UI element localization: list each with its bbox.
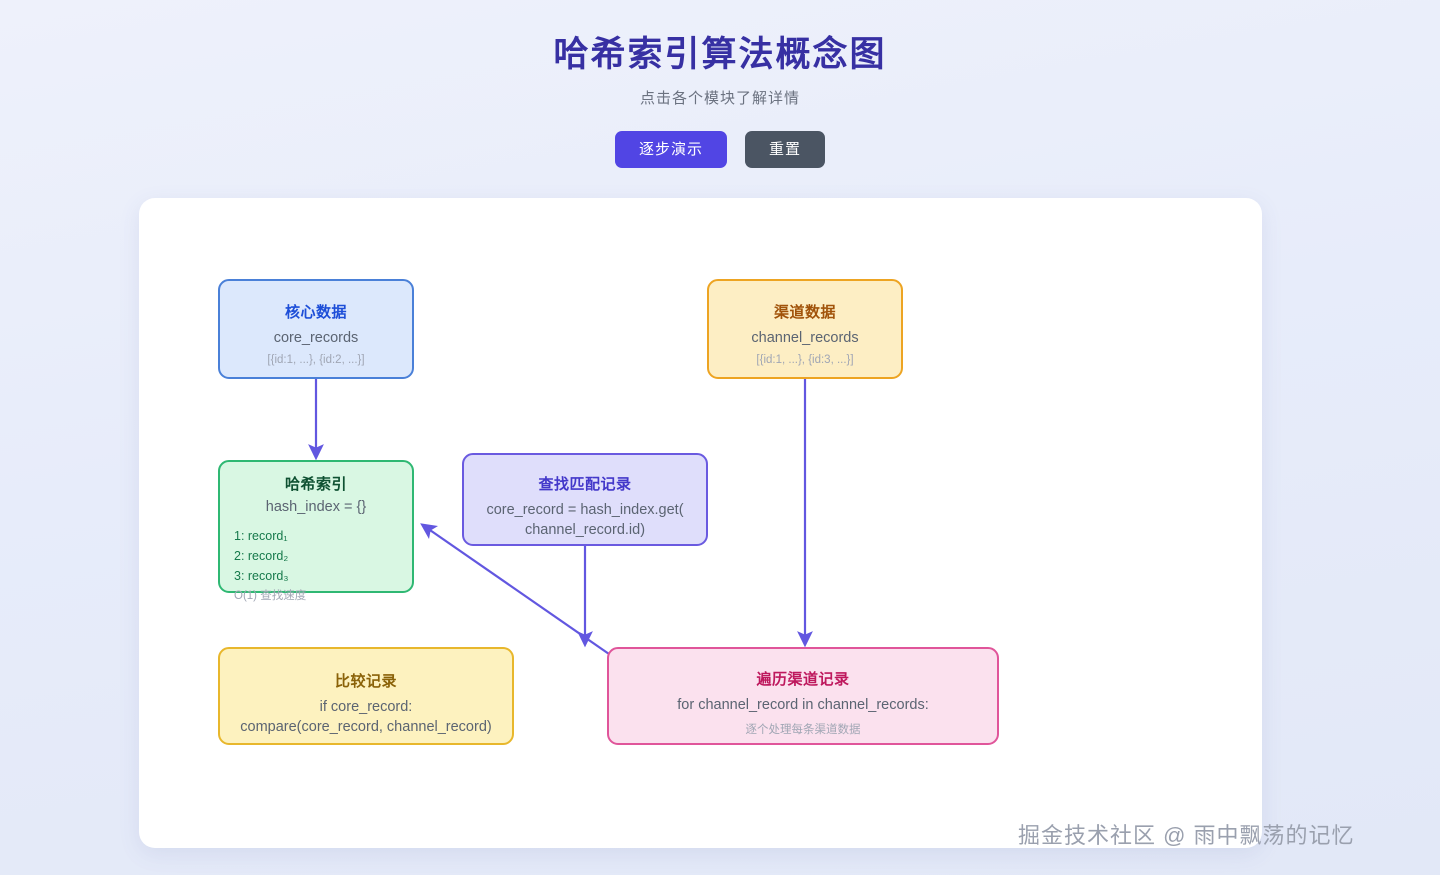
toolbar: 逐步演示 重置: [0, 131, 1440, 168]
node-lookup-title: 查找匹配记录: [464, 473, 706, 494]
hash-index-entry: 1: record₁: [234, 526, 412, 546]
node-compare[interactable]: 比较记录 if core_record: compare(core_record…: [218, 647, 514, 745]
node-hash-index-code: hash_index = {}: [220, 498, 412, 518]
hash-index-entry: 2: record₂: [234, 546, 412, 566]
node-hash-index[interactable]: 哈希索引 hash_index = {} 1: record₁ 2: recor…: [218, 460, 414, 593]
hash-index-entry-list: 1: record₁ 2: record₂ 3: record₃: [220, 526, 412, 587]
node-channel-data-title: 渠道数据: [709, 301, 901, 322]
node-core-data[interactable]: 核心数据 core_records [{id:1, ...}, {id:2, .…: [218, 279, 414, 379]
node-hash-index-note: O(1) 查找速度: [220, 587, 412, 603]
node-lookup-code-line1: core_record = hash_index.get(: [464, 501, 706, 521]
node-core-data-note: [{id:1, ...}, {id:2, ...}]: [220, 354, 412, 366]
node-iterate-title: 遍历渠道记录: [609, 668, 997, 689]
diagram-canvas: 核心数据 core_records [{id:1, ...}, {id:2, .…: [139, 198, 1262, 848]
node-compare-code-line2: compare(core_record, channel_record): [220, 718, 512, 738]
node-iterate-code: for channel_record in channel_records:: [609, 696, 997, 716]
node-hash-index-title: 哈希索引: [220, 473, 412, 494]
node-compare-title: 比较记录: [220, 670, 512, 691]
node-core-data-code: core_records: [220, 329, 412, 349]
step-demo-button[interactable]: 逐步演示: [615, 131, 727, 168]
node-compare-code-line1: if core_record:: [220, 698, 512, 718]
node-iterate[interactable]: 遍历渠道记录 for channel_record in channel_rec…: [607, 647, 999, 745]
page-title: 哈希索引算法概念图: [0, 0, 1440, 77]
node-iterate-note: 逐个处理每条渠道数据: [609, 721, 997, 737]
node-channel-data[interactable]: 渠道数据 channel_records [{id:1, ...}, {id:3…: [707, 279, 903, 379]
node-channel-data-code: channel_records: [709, 329, 901, 349]
node-channel-data-note: [{id:1, ...}, {id:3, ...}]: [709, 354, 901, 366]
hash-index-entry: 3: record₃: [234, 566, 412, 586]
edge-iterate-to-hash: [427, 528, 609, 654]
page-subtitle: 点击各个模块了解详情: [0, 87, 1440, 108]
node-lookup-code-line2: channel_record.id): [464, 521, 706, 541]
reset-button[interactable]: 重置: [745, 131, 825, 168]
node-lookup[interactable]: 查找匹配记录 core_record = hash_index.get( cha…: [462, 453, 708, 546]
node-core-data-title: 核心数据: [220, 301, 412, 322]
